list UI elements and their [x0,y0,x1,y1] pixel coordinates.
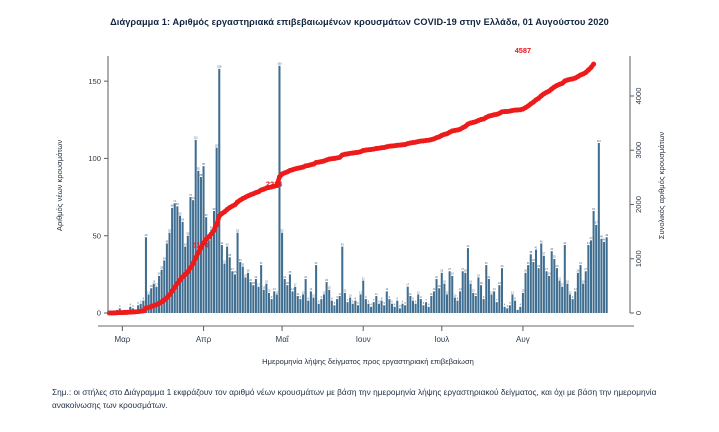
bar [292,291,294,313]
bar [396,301,398,313]
cumulative-annotation: 2224 [266,179,283,188]
bar-value-label: 19 [443,279,446,283]
cumulative-annotation: 1100 [193,240,209,249]
bar-value-label: 63 [179,211,182,215]
bar-value-label: 73 [192,196,195,200]
bar-value-label: 20 [325,278,328,282]
bar-value-label: 36 [228,253,231,257]
bar [208,240,210,313]
bar-value-label: 24 [548,272,551,276]
bar-value-label: 95 [202,162,205,166]
bar-value-label: 31 [527,261,530,265]
bar-value-label: 12 [511,290,514,294]
bar [404,305,406,313]
bar [420,299,422,313]
bar-value-label: 6 [415,300,417,304]
y-tick-label: 150 [88,77,101,86]
bar [459,291,461,313]
bar [163,260,165,313]
covid-chart-figure: Διάγραμμα 1: Αριθμός εργαστηριακά επιβεβ… [0,0,719,432]
bar [454,298,456,313]
x-axis-title: Ημερομηνία λήψης δείγματος προς εργαστηρ… [262,357,474,366]
bar [268,293,270,313]
bar-value-label: 3 [119,304,121,308]
bar-value-label: 92 [197,167,200,171]
bar [169,233,171,313]
bar [271,299,273,313]
line-marker [591,62,596,67]
bar-value-label: 11 [474,292,477,296]
bar-value-label: 25 [288,270,291,274]
bar [504,307,506,313]
bar [347,302,349,313]
bar [422,305,424,313]
bar-value-label: 52 [281,228,284,232]
bar [218,69,220,313]
bar [328,290,330,313]
bar-value-label: 42 [467,244,470,248]
bar-value-label: 59 [181,218,184,222]
bar-value-label: 45 [165,239,168,243]
bar-value-label: 17 [294,283,297,287]
bar [145,237,147,313]
bar-value-label: 12 [323,290,326,294]
bar-value-label: 62 [205,213,208,217]
bar-value-label: 26 [440,269,443,273]
bar [221,245,223,313]
bar [305,279,307,313]
bar-value-label: 11 [430,292,433,296]
bar [373,302,375,313]
bar [564,245,566,313]
bar-value-label: 19 [469,279,472,283]
bar-value-label: 24 [451,272,454,276]
bar [511,294,513,313]
bar-value-label: 43 [184,242,187,246]
bar-value-label: 18 [286,281,289,285]
bar-value-label: 11 [409,292,412,296]
bar-value-label: 12 [569,290,572,294]
bar-value-label: 44 [587,241,590,245]
bar [354,301,356,313]
bar [561,287,563,313]
bar [357,305,359,313]
bar-value-label: 7 [373,298,375,302]
bar [158,276,160,313]
bar-value-label: 33 [239,258,242,262]
bar-value-label: 7 [425,298,427,302]
bar-value-label: 8 [381,296,383,300]
bar-value-label: 21 [362,276,365,280]
bar-value-label: 12 [275,290,278,294]
bar [456,301,458,313]
bar-value-label: 9 [271,295,273,299]
bar [302,294,304,313]
bar [433,291,435,313]
bar [572,299,574,313]
bar-value-label: 19 [566,279,569,283]
bar [545,271,547,313]
bar [600,239,602,313]
bar [244,277,246,313]
bar [155,287,157,313]
bar [318,304,320,313]
line-marker [193,255,198,260]
bar [574,291,576,313]
bar [258,287,260,313]
bar [517,310,519,313]
bar-value-label: 12 [359,290,362,294]
bar-value-label: 49 [605,233,608,237]
bar-value-label: 23 [244,273,247,277]
bar-value-label: 14 [385,287,388,291]
bar [480,285,482,313]
bar [462,271,464,313]
bar [535,250,537,313]
bar-value-label: 9 [483,295,485,299]
bar [286,285,288,313]
bar [263,290,265,313]
y2-tick-label: 0 [634,311,643,315]
bar [496,302,498,313]
bar [548,276,550,313]
bar-value-label: 8 [308,296,310,300]
y2-tick-label: 2000 [634,196,643,213]
x-tick-label: Μαΐ [276,335,290,344]
bar [485,265,487,313]
bar [464,273,466,313]
bar-value-label: 15 [262,286,265,290]
bar-value-label: 24 [158,272,161,276]
bar-value-label: 44 [220,241,223,245]
cumulative-annotation: 4587 [515,46,531,55]
bar-value-label: 14 [574,287,577,291]
bar-value-label: 8 [457,296,459,300]
bar [493,291,495,313]
bar-value-label: 29 [501,264,504,268]
bar-value-label: 160 [277,62,282,66]
bar-value-label: 17 [155,283,158,287]
bar-value-label: 3 [132,304,134,308]
x-tick-label: Απρ [196,335,212,344]
bar-value-label: 31 [260,261,263,265]
bar [566,284,568,313]
bar [148,294,150,313]
y-axis-title: Αριθμός νέων κρουσμάτων [55,140,64,231]
bar [161,270,163,313]
bar-value-label: 27 [584,267,587,271]
bar-value-label: 8 [143,296,145,300]
bar-value-label: 110 [597,139,602,143]
bar [425,302,427,313]
bar [205,217,207,313]
bar-value-label: 4 [394,303,396,307]
bar [341,247,343,313]
bar [514,301,516,313]
bar-value-label: 16 [150,284,153,288]
bar [438,288,440,313]
bar [401,304,403,313]
bar-value-label: 37 [542,252,545,256]
bar-value-label: 43 [226,242,229,246]
bar-value-label: 30 [241,262,244,266]
bar-value-label: 23 [477,273,480,277]
bar [307,301,309,313]
bar-value-label: 11 [338,292,341,296]
bar [174,203,176,313]
bar-value-label: 22 [254,275,257,279]
bar [182,222,184,313]
bar [323,294,325,313]
x-tick-label: Αυγ [516,335,530,344]
bar [189,197,191,313]
bar [603,242,605,313]
bar [339,296,341,313]
x-tick-label: Μαρ [114,335,130,344]
bar [223,264,225,313]
bar [522,293,524,313]
bar-value-label: 21 [558,276,561,280]
bar [543,256,545,313]
bar [470,284,472,313]
bar [171,208,173,313]
bar-value-label: 112 [194,136,199,140]
bar-value-label: 34 [163,256,166,260]
bar-value-label: 158 [217,65,222,69]
bar [383,305,385,313]
bar [509,305,511,313]
bar [273,291,275,313]
bar [179,216,181,313]
bar [551,251,553,313]
bar [375,296,377,313]
bar [415,304,417,313]
bar [593,211,595,313]
bar-value-label: 14 [432,287,435,291]
bar-value-label: 17 [257,283,260,287]
bar-value-label: 68 [171,204,174,208]
bar-value-label: 3 [399,304,401,308]
bar-value-label: 44 [563,241,566,245]
bar [527,265,529,313]
bar-value-label: 26 [524,269,527,273]
bar [446,294,448,313]
bar [252,285,254,313]
bar [184,247,186,313]
bar-value-label: 26 [576,269,579,273]
bar [315,265,317,313]
bar-value-label: 5 [334,301,336,305]
footnote: Σημ.: οι στήλες στο Διάγραμμα 1 εκφράζου… [52,386,672,412]
bar [525,273,527,313]
bar [428,307,430,313]
bar [229,257,231,313]
bar-value-label: 12 [147,290,150,294]
bar-value-label: 22 [304,275,307,279]
bar-value-label: 11 [375,292,378,296]
bar [195,140,197,313]
bar-value-label: 12 [417,290,420,294]
bar-value-label: 40 [550,247,553,251]
bar-value-label: 15 [328,286,331,290]
bar [352,304,354,313]
bar [598,143,600,313]
bar-value-label: 8 [397,296,399,300]
x-tick-label: Ιουν [356,335,371,344]
bar [381,301,383,313]
bar [294,287,296,313]
bar [360,294,362,313]
bar [606,237,608,313]
bar-value-label: 5 [357,301,359,305]
bar [417,294,419,313]
bar-value-label: 22 [283,275,286,279]
bar [276,294,278,313]
bar [556,268,558,313]
y2-tick-label: 1000 [634,250,643,267]
bar-value-label: 43 [341,242,344,246]
bar [312,298,314,313]
bar [498,285,500,313]
annotations: 110022244587 [193,46,531,249]
bar-value-label: 49 [145,233,148,237]
y-tick-label: 100 [88,154,101,163]
y2-tick-label: 4000 [634,88,643,105]
line-marker [196,250,201,255]
bar [441,273,443,313]
bar-value-label: 66 [213,207,216,211]
bar-value-label: 5 [383,301,385,305]
cumulative-line-series [107,62,596,316]
bar-value-label: 7 [347,298,349,302]
bar-value-label: 9 [365,295,367,299]
bar [569,294,571,313]
bar [336,299,338,313]
bar-value-label: 8 [355,296,357,300]
bar [333,305,335,313]
bar [391,304,393,313]
bar-value-label: 35 [553,255,556,259]
bar [475,296,477,313]
bar [501,268,503,313]
bar [449,271,451,313]
bar [365,299,367,313]
bar-value-label: 38 [529,250,532,254]
bar [239,262,241,313]
y-tick-label: 0 [97,309,101,318]
bar-value-label: 8 [331,296,333,300]
bar [590,240,592,313]
bar [231,271,233,313]
bar-value-label: 26 [464,269,467,273]
bar [320,299,322,313]
bar [234,274,236,313]
bar-value-label: 18 [480,281,483,285]
bar [409,296,411,313]
bar-value-label: 6 [318,300,320,304]
bar [532,262,534,313]
bar-value-label: 9 [321,295,323,299]
bar-value-label: 46 [603,238,606,242]
bar-value-label: 14 [291,287,294,291]
bar-value-label: 31 [485,261,488,265]
bar-value-label: 9 [389,295,391,299]
bar-value-label: 29 [556,264,559,268]
bar [281,233,283,313]
bar-value-label: 17 [561,283,564,287]
bar-value-label: 27 [545,267,548,271]
bar-value-label: 9 [420,295,422,299]
x-tick-label: Ιουλ [434,335,449,344]
bar [166,243,168,313]
bar [430,296,432,313]
bar-value-label: 19 [582,279,585,283]
bar-value-label: 31 [579,261,582,265]
bar [344,293,346,313]
bar [370,307,372,313]
bar [538,268,540,313]
bar-value-label: 32 [223,259,226,263]
bar-value-label: 69 [176,202,179,206]
bar-value-label: 18 [252,281,255,285]
y2-axis-title: Συνολικός αριθμός κρουσμάτων [657,132,666,240]
bar-value-label: 14 [493,287,496,291]
bar-value-label: 45 [540,239,543,243]
bar [278,66,280,313]
bar-value-label: 19 [265,279,268,283]
bar [488,279,490,313]
bar [483,299,485,313]
y2-tick-label: 3000 [634,142,643,159]
bar [153,284,155,313]
bar-value-label: 8 [514,296,516,300]
bar-value-label: 16 [438,284,441,288]
bar [587,245,589,313]
bar-value-label: 52 [236,228,239,232]
bar [472,293,474,313]
bar-value-label: 9 [300,295,302,299]
bar [265,284,267,313]
bar [176,206,178,313]
bar-value-label: 12 [302,290,305,294]
bar-value-label: 88 [199,173,202,177]
bar [210,230,212,313]
bar [299,299,301,313]
bar-value-label: 4 [428,303,430,307]
bar [386,291,388,313]
bar-value-label: 22 [487,275,490,279]
bar-value-label: 50 [186,232,189,236]
bar [349,298,351,313]
line-marker [191,261,196,266]
bar [519,307,521,313]
bar [250,282,252,313]
bar-value-label: 29 [537,264,540,268]
bar-value-label: 10 [349,293,352,297]
bar [362,281,364,313]
bar-value-label: 22 [435,275,438,279]
bar-value-label: 13 [343,289,346,293]
bar [530,254,532,313]
bar-value-label: 10 [312,293,315,297]
line-marker [212,228,217,233]
bar [506,308,508,313]
bar [297,296,299,313]
bar [443,284,445,313]
chart-svg: 3435684912161917242834455268716963594350… [0,0,719,380]
bar [378,304,380,313]
line-marker [214,222,219,227]
